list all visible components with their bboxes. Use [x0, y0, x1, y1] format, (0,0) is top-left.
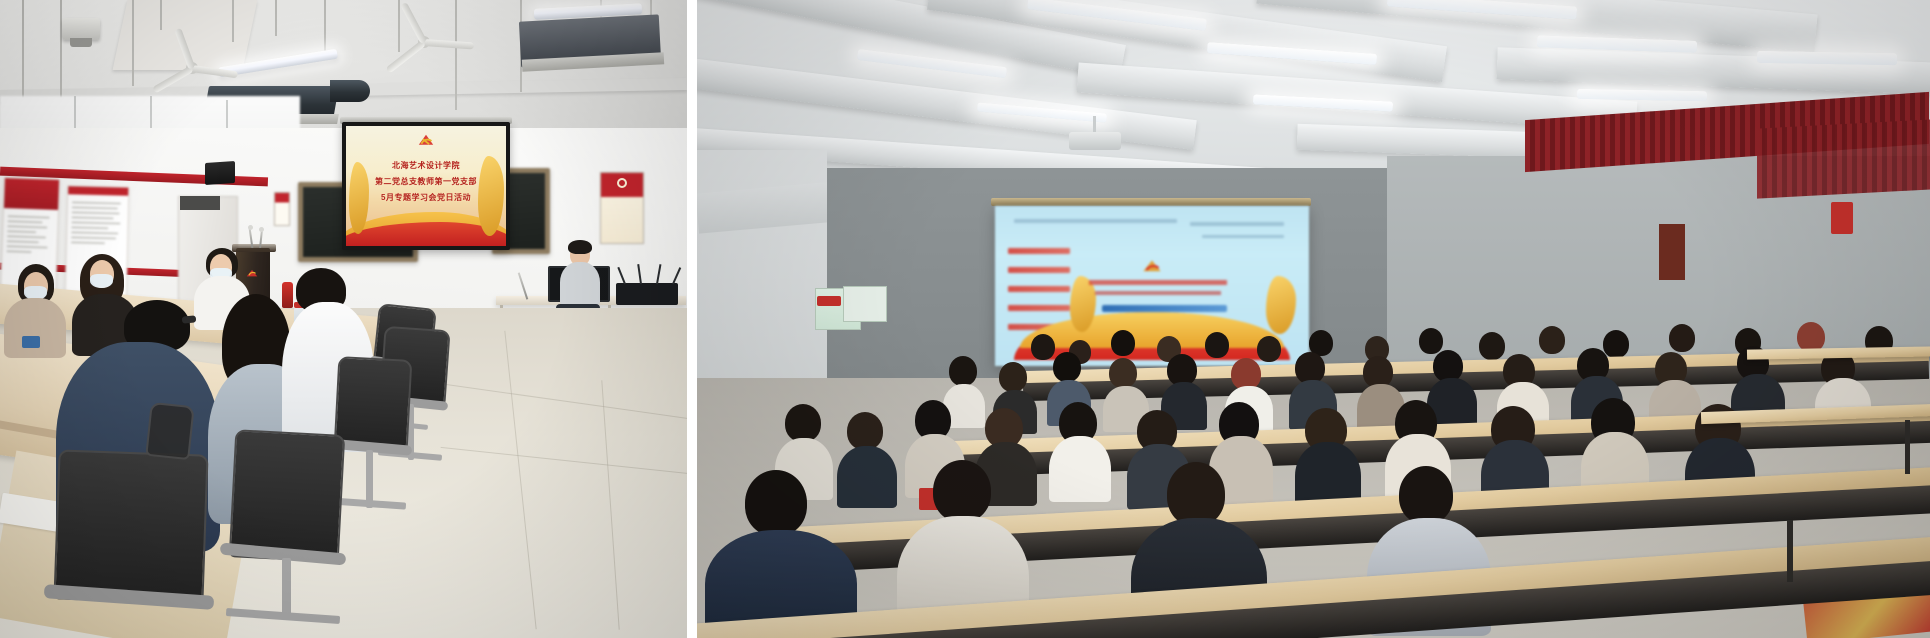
slide-bullet-item [1008, 267, 1071, 273]
desk-leg [1905, 420, 1910, 474]
left-photo-seminar-room: 北海艺术设计学院 第二党总支教师第一党支部 5月专题学习会党日活动 主题党日活动 [0, 0, 687, 638]
red-curtain [1757, 119, 1930, 198]
poster-header [4, 178, 59, 210]
face-mask [90, 274, 113, 288]
red-wall-sign [1831, 202, 1853, 234]
projector-right [1069, 132, 1121, 150]
hanger-rod [275, 0, 277, 36]
hanger-rod [455, 0, 457, 110]
person-hair [568, 240, 592, 254]
slide-header-line [1014, 219, 1177, 223]
poster-text-lines [67, 194, 128, 251]
office-chair-back[interactable] [145, 402, 194, 460]
slide-bullet-item [1008, 248, 1071, 254]
hanger-rod [398, 0, 400, 52]
fire-extinguisher [282, 282, 293, 308]
slide-bullet-item [1008, 305, 1071, 311]
slide-header-line [1190, 222, 1284, 226]
cpc-hammer-sickle-emblem [415, 133, 437, 151]
slide-ribbon-right [478, 156, 504, 236]
duct-elbow [330, 80, 370, 102]
slide-title-bar [1095, 291, 1221, 295]
office-chair-back[interactable] [229, 429, 346, 563]
microphone-head [248, 225, 253, 230]
slide-ribbon-right [1266, 276, 1296, 334]
projector-mount [70, 38, 92, 47]
office-chair-back[interactable] [53, 449, 208, 604]
desk-leg [1787, 520, 1793, 582]
certificate-seal-icon [617, 178, 627, 188]
slide-blue-bar [1102, 305, 1228, 312]
lectern-cpc-emblem [245, 268, 259, 280]
ceiling-light [1757, 51, 1897, 65]
projection-screen-left: 北海艺术设计学院 第二党总支教师第一党支部 5月专题学习会党日活动 主题党日活动 [342, 122, 510, 250]
office-chair-back[interactable] [334, 356, 413, 452]
slide-bullet-item [1008, 286, 1071, 292]
lectern-top [232, 244, 276, 252]
slide-cpc-emblem [1139, 257, 1165, 279]
slide-header-line [1202, 235, 1284, 238]
projection-screen-roller [991, 198, 1311, 206]
wifi-router [616, 283, 678, 305]
wall-speaker [205, 161, 235, 185]
microphone-head [259, 227, 264, 232]
smartphone [22, 336, 40, 348]
photo-composite: 北海艺术设计学院 第二党总支教师第一党支部 5月专题学习会党日活动 主题党日活动 [0, 0, 1930, 638]
hanger-rod [232, 0, 234, 42]
person-body [4, 298, 66, 358]
slide-left: 北海艺术设计学院 第二党总支教师第一党支部 5月专题学习会党日活动 主题党日活动 [346, 126, 506, 246]
projector-left [62, 18, 100, 40]
notice-board [843, 286, 887, 322]
hanger-rod [160, 0, 162, 30]
poster-text-lines [2, 208, 58, 261]
slide-title-bar [1089, 280, 1227, 285]
door-transom [180, 196, 220, 210]
right-photo-lecture-hall [697, 0, 1930, 638]
office-chair-leg [282, 558, 291, 620]
hanger-rod [132, 0, 134, 86]
hanger-rod [22, 0, 24, 105]
notice-sign [817, 296, 841, 306]
wall-small-notice [274, 192, 290, 226]
slide-gold-wave [1020, 312, 1284, 348]
person-body [560, 262, 600, 306]
doorway-dark [1659, 224, 1685, 280]
